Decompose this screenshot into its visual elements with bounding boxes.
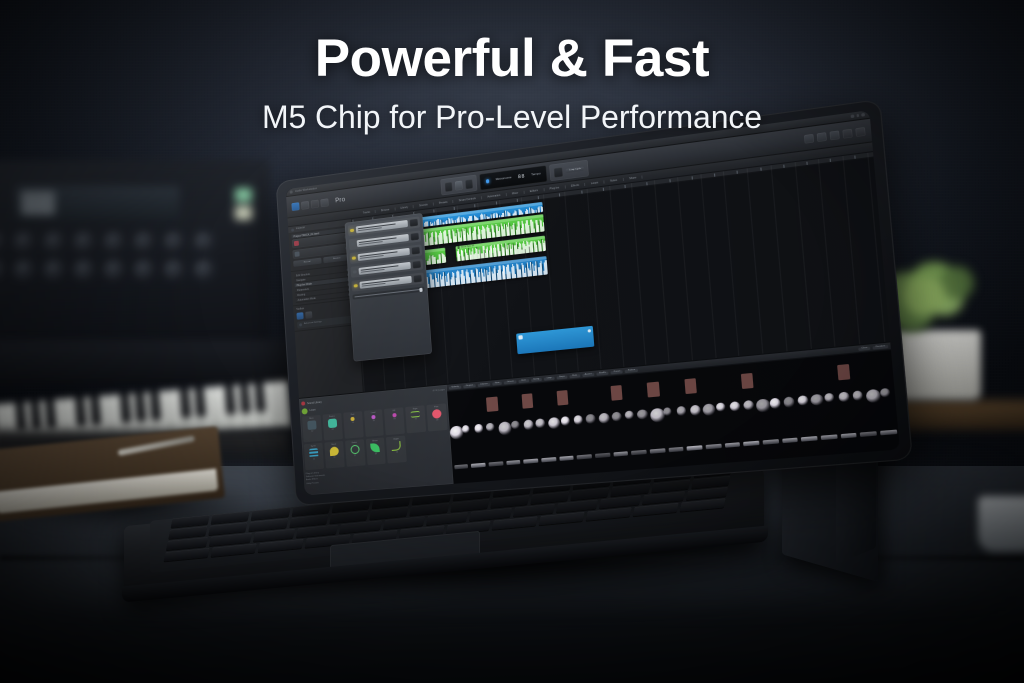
- record-button[interactable]: Record: [293, 258, 321, 267]
- cell-label: Perc: [434, 406, 438, 408]
- cell-label: Organ: [393, 438, 399, 441]
- library-cell-grid[interactable]: Bass12Drums08Pad24Lead16FX06Keys31Perc19…: [302, 403, 450, 470]
- cell-count: 08: [332, 428, 334, 430]
- accent-cell[interactable]: [684, 378, 697, 394]
- loop-label: Loop Cycle: [566, 166, 584, 172]
- seq-chip-pattern[interactable]: Pattern: [625, 368, 638, 372]
- cell-count: 19: [436, 419, 438, 421]
- cell-count: 11: [333, 456, 335, 458]
- sequencer-pad[interactable]: [462, 425, 470, 433]
- velocity-bar[interactable]: [763, 439, 779, 445]
- gear-icon: [299, 323, 302, 326]
- velocity-bar[interactable]: [821, 434, 837, 440]
- sequencer-pad[interactable]: [703, 403, 716, 416]
- synth-led-white: [235, 206, 252, 220]
- accent-cell[interactable]: [521, 393, 533, 409]
- sequencer-pad[interactable]: [756, 399, 770, 413]
- cell-drop-icon: [329, 446, 338, 456]
- power-led-icon[interactable]: [354, 284, 358, 288]
- seq-chip-gate[interactable]: Gate: [518, 379, 528, 383]
- seq-chip-repeat[interactable]: Repeat: [463, 384, 475, 388]
- cell-label: Synth: [311, 445, 316, 447]
- record-icon[interactable]: [465, 179, 473, 189]
- library-cell-brass[interactable]: Brass09: [365, 437, 386, 465]
- cell-count: 12: [311, 430, 313, 432]
- sequencer-pad[interactable]: [611, 412, 622, 422]
- loops-pack-icon: [302, 408, 308, 414]
- library-cell-organ[interactable]: Organ14: [386, 436, 407, 464]
- sequencer-pad[interactable]: [561, 416, 571, 426]
- seq-chip-octave[interactable]: Octave: [504, 380, 516, 384]
- cell-wave-icon: [411, 410, 421, 417]
- seq-chip-swing[interactable]: Swing: [531, 377, 543, 381]
- velocity-bar[interactable]: [613, 451, 628, 456]
- accent-cell[interactable]: [647, 382, 660, 398]
- cell-label: Drums: [329, 415, 335, 418]
- cell-arc-icon: [392, 441, 402, 451]
- seq-chip-velocity[interactable]: Velocity: [449, 385, 462, 389]
- cell-count: 06: [393, 418, 395, 420]
- plugin-edit-icon[interactable]: [411, 247, 420, 255]
- position-display: 88: [518, 173, 526, 180]
- region-icon: [518, 335, 523, 340]
- velocity-bar[interactable]: [471, 463, 485, 468]
- synth-display: [15, 186, 180, 220]
- tempo-label: Tempo: [531, 172, 541, 177]
- sequencer-pad[interactable]: [783, 397, 795, 408]
- cell-label: Vocal: [331, 443, 336, 445]
- sequencer-pad[interactable]: [852, 391, 863, 401]
- cell-count: 22: [313, 458, 315, 460]
- play-icon[interactable]: [455, 180, 463, 190]
- tab-plug-ins[interactable]: Plug-Ins: [544, 185, 566, 191]
- power-led-icon[interactable]: [350, 228, 354, 232]
- library-cell-fx[interactable]: FX06: [384, 407, 405, 435]
- sequencer-pad[interactable]: [523, 419, 534, 430]
- tab-browse[interactable]: Browse: [376, 207, 395, 212]
- cell-count: 14: [396, 451, 398, 453]
- velocity-bar[interactable]: [706, 444, 722, 450]
- plugin-name-display: [355, 220, 408, 234]
- sequencer-pad[interactable]: [689, 405, 700, 416]
- cell-circle-icon: [432, 408, 442, 418]
- cell-label: Pad: [351, 413, 355, 415]
- velocity-bar[interactable]: [650, 448, 665, 453]
- app-brand-label: Pro: [335, 197, 345, 204]
- tab-share[interactable]: Share: [624, 175, 644, 181]
- velocity-bar[interactable]: [880, 430, 897, 436]
- velocity-bar[interactable]: [687, 445, 703, 451]
- cell-label: FX: [393, 410, 396, 412]
- sequencer-pad[interactable]: [716, 403, 725, 412]
- metronome-indicator[interactable]: [486, 179, 490, 183]
- library-cell-drums[interactable]: Drums08: [322, 413, 342, 441]
- cell-dot-icon: [371, 414, 375, 418]
- red-instrument-icon: [294, 241, 299, 246]
- cell-stack-icon: [309, 448, 318, 458]
- velocity-bar[interactable]: [577, 454, 592, 459]
- plugin-edit-icon[interactable]: [410, 233, 419, 241]
- library-cell-lead[interactable]: Lead16: [364, 409, 385, 437]
- library-meta: 4 / 8 | Loops: [433, 389, 445, 392]
- cell-count: 27: [354, 454, 356, 456]
- seq-chip-clear[interactable]: Clear: [858, 346, 870, 350]
- plugin-rack-rows: [348, 216, 424, 291]
- sequencer-pad[interactable]: [637, 409, 648, 420]
- velocity-bar[interactable]: [743, 441, 759, 447]
- tab-library[interactable]: Library: [395, 205, 414, 210]
- grid-icon[interactable]: [301, 200, 309, 209]
- velocity-bar[interactable]: [801, 436, 817, 442]
- cell-count: 24: [352, 421, 354, 423]
- velocity-bar[interactable]: [782, 438, 798, 444]
- seq-chip-note[interactable]: Note: [492, 381, 502, 385]
- sequencer-pad[interactable]: [548, 417, 560, 429]
- accent-cell[interactable]: [557, 390, 569, 406]
- tab-smart-controls[interactable]: Smart Controls: [454, 196, 483, 203]
- synth-led-green: [235, 188, 252, 202]
- sequencer-pad[interactable]: [770, 398, 782, 409]
- sequencer-pad[interactable]: [811, 394, 824, 406]
- cell-count: 09: [375, 453, 377, 455]
- plugin-edit-icon[interactable]: [410, 219, 419, 227]
- library-cell-vocal[interactable]: Vocal11: [324, 441, 344, 469]
- cell-label: Bass: [309, 417, 313, 419]
- cup-prop: [978, 496, 1024, 552]
- tab-sounds[interactable]: Sounds: [414, 202, 434, 208]
- cell-dot-icon: [392, 412, 396, 416]
- sequencer-pad[interactable]: [743, 400, 754, 411]
- sequencer-pad[interactable]: [586, 414, 596, 423]
- list-icon[interactable]: [311, 199, 319, 208]
- grey-instrument-icon: [295, 251, 300, 256]
- window-title: Audio Workstation: [295, 187, 317, 193]
- sequencer-pad[interactable]: [838, 392, 849, 402]
- plugin-name-display: [358, 262, 411, 275]
- accent-cell[interactable]: [486, 397, 498, 413]
- headline-block: Powerful & Fast M5 Chip for Pro-Level Pe…: [0, 28, 1024, 136]
- cell-count: 31: [415, 418, 417, 420]
- cell-dot-icon: [351, 416, 355, 420]
- tab-notes[interactable]: Notes: [605, 177, 624, 183]
- region-menu-icon[interactable]: [588, 329, 591, 332]
- cell-label: Lead: [371, 411, 376, 413]
- synthesizer-prop: [0, 160, 270, 350]
- velocity-bar[interactable]: [595, 453, 610, 458]
- tab-effects[interactable]: Effects: [566, 182, 586, 188]
- sequencer-pad[interactable]: [486, 423, 495, 432]
- cell-ring-icon: [350, 444, 360, 454]
- mixer-icon[interactable]: [320, 198, 328, 207]
- velocity-bar[interactable]: [840, 433, 857, 439]
- sequencer-pad[interactable]: [663, 407, 672, 416]
- cell-label: Brass: [372, 439, 377, 441]
- cell-label: Keys: [413, 407, 418, 409]
- sequencer-pad[interactable]: [536, 418, 546, 428]
- tab-tracks[interactable]: Tracks: [358, 209, 376, 214]
- synth-knob-row-2: [0, 260, 234, 281]
- sequencer-pad[interactable]: [599, 413, 611, 425]
- library-cell-pad[interactable]: Pad24: [343, 411, 363, 439]
- view-mode-icons: [291, 198, 328, 211]
- cell-count: 16: [373, 419, 375, 421]
- velocity-bar[interactable]: [668, 447, 684, 452]
- sequencer-pad[interactable]: [474, 424, 484, 434]
- seq-chip-accent[interactable]: Accent: [582, 372, 595, 376]
- library-cell-bass[interactable]: Bass12: [302, 415, 322, 442]
- accent-cell[interactable]: [740, 373, 753, 390]
- tab-loops[interactable]: Loops: [585, 180, 604, 186]
- sequencer-pad[interactable]: [729, 401, 740, 412]
- sequencer-pad[interactable]: [573, 415, 583, 425]
- scene-root: Audio Workstation Pro: [0, 0, 1024, 683]
- velocity-bar[interactable]: [559, 456, 574, 461]
- velocity-bar[interactable]: [488, 461, 503, 466]
- library-cell-synth[interactable]: Synth22: [304, 443, 324, 470]
- velocity-bar[interactable]: [631, 450, 646, 455]
- plugin-name-display: [356, 234, 409, 247]
- sound-library-panel[interactable]: Sound Library 4 / 8 | Loops Loops Bass12…: [299, 385, 454, 495]
- rewind-icon[interactable]: [445, 181, 453, 191]
- plugin-name-display: [357, 248, 410, 261]
- seq-chip-shuffle[interactable]: Shuffle: [596, 371, 609, 375]
- power-led-icon[interactable]: [353, 270, 357, 274]
- advanced-settings-label: Advanced Settings: [304, 321, 322, 325]
- page-subtitle: M5 Chip for Pro-Level Performance: [0, 99, 1024, 136]
- plugin-rack-panel[interactable]: [345, 213, 432, 362]
- card-text: [301, 238, 343, 243]
- metronome-label: Metronome: [496, 176, 512, 182]
- tab-automation[interactable]: Automation: [482, 193, 507, 199]
- synth-knob-row-1: [0, 232, 234, 253]
- plugin-edit-icon[interactable]: [413, 275, 422, 283]
- sequencer-pad[interactable]: [797, 395, 808, 406]
- loop-group[interactable]: Loop Cycle: [550, 160, 590, 181]
- sequencer-pad[interactable]: [880, 388, 890, 397]
- velocity-bar[interactable]: [506, 460, 521, 465]
- velocity-bar[interactable]: [860, 431, 877, 437]
- library-cell-perc[interactable]: Perc19: [427, 403, 448, 431]
- library-icon: [301, 401, 305, 405]
- seq-chip-loop[interactable]: Loop: [544, 376, 554, 380]
- library-title: Sound Library: [307, 400, 322, 404]
- accent-cell[interactable]: [837, 364, 851, 381]
- sidebar-header-icon: [291, 228, 294, 231]
- tab-editors[interactable]: Editors: [524, 188, 544, 194]
- window-dot[interactable]: [290, 191, 293, 194]
- sequencer-pad[interactable]: [676, 406, 686, 416]
- seq-chip-preset[interactable]: Preset: [611, 370, 623, 374]
- cell-rounded-icon: [328, 418, 337, 428]
- cell-leaf-icon: [371, 442, 381, 452]
- loop-icon[interactable]: [554, 167, 563, 177]
- transport-left-group[interactable]: [440, 175, 477, 196]
- loops-pack-label: Loops: [309, 409, 315, 412]
- plugin-name-display: [359, 276, 412, 289]
- tab-mixer[interactable]: Mixer: [506, 190, 524, 195]
- cell-label: Guitar: [351, 441, 357, 443]
- seq-chip-steps[interactable]: Steps: [556, 375, 567, 379]
- library-cell-keys[interactable]: Keys31: [405, 405, 426, 433]
- page-title: Powerful & Fast: [0, 28, 1024, 89]
- power-led-icon[interactable]: [352, 256, 356, 260]
- tool-scissors-icon[interactable]: [305, 311, 312, 319]
- velocity-bar[interactable]: [724, 442, 740, 448]
- sequencer-pad[interactable]: [866, 389, 881, 403]
- velocity-bar[interactable]: [523, 458, 538, 463]
- sequencer-pad[interactable]: [511, 421, 520, 430]
- sequencer-pad[interactable]: [624, 411, 633, 420]
- sequencer-pad[interactable]: [824, 393, 833, 402]
- tab-presets[interactable]: Presets: [434, 199, 454, 205]
- card-text: [301, 248, 343, 253]
- cell-square-icon: [307, 420, 316, 430]
- tool-pointer-icon[interactable]: [296, 312, 303, 320]
- seq-chip-chance[interactable]: Chance: [478, 382, 491, 386]
- velocity-bar[interactable]: [541, 457, 556, 462]
- power-led-icon[interactable]: [351, 242, 355, 246]
- sidebar-header-label: Inspector: [296, 227, 305, 230]
- plugin-edit-icon[interactable]: [412, 261, 421, 269]
- accent-cell[interactable]: [611, 385, 623, 401]
- seq-chip-rate[interactable]: Rate: [570, 374, 580, 378]
- seq-chip-random[interactable]: Random: [873, 344, 889, 349]
- library-cell-guitar[interactable]: Guitar27: [345, 439, 365, 467]
- library-icon[interactable]: [291, 202, 299, 211]
- velocity-bar[interactable]: [454, 464, 468, 469]
